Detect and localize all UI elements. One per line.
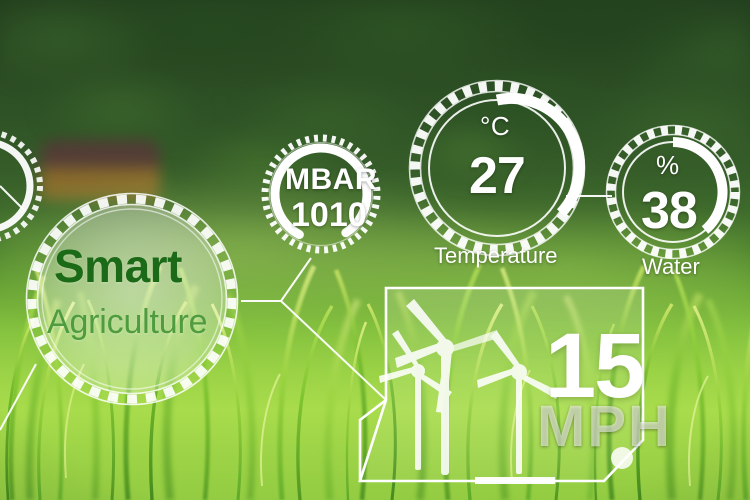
- hud-overlay: Smart Agriculture MBAR 1010 °C 27 Temper…: [0, 0, 750, 500]
- brand-badge-ring: [27, 194, 238, 405]
- temperature-caption: Temperature: [434, 245, 558, 267]
- water-caption: Water: [642, 256, 700, 278]
- temperature-unit-label: °C: [480, 113, 510, 139]
- panel-bottom-bar: [475, 477, 555, 484]
- pressure-value: 1010: [291, 198, 367, 232]
- partial-gauge-offscreen: [0, 132, 40, 240]
- temperature-value: 27: [469, 150, 525, 202]
- smart-agriculture-hud-screenshot: Smart Agriculture MBAR 1010 °C 27 Temper…: [0, 0, 750, 500]
- pressure-unit-label: MBAR: [285, 165, 377, 195]
- brand-subtitle: Agriculture: [47, 305, 207, 339]
- water-unit-label: %: [656, 152, 680, 178]
- wind-speed-unit: MPH: [537, 398, 672, 456]
- brand-title: Smart: [54, 243, 182, 289]
- water-value: 38: [641, 185, 697, 237]
